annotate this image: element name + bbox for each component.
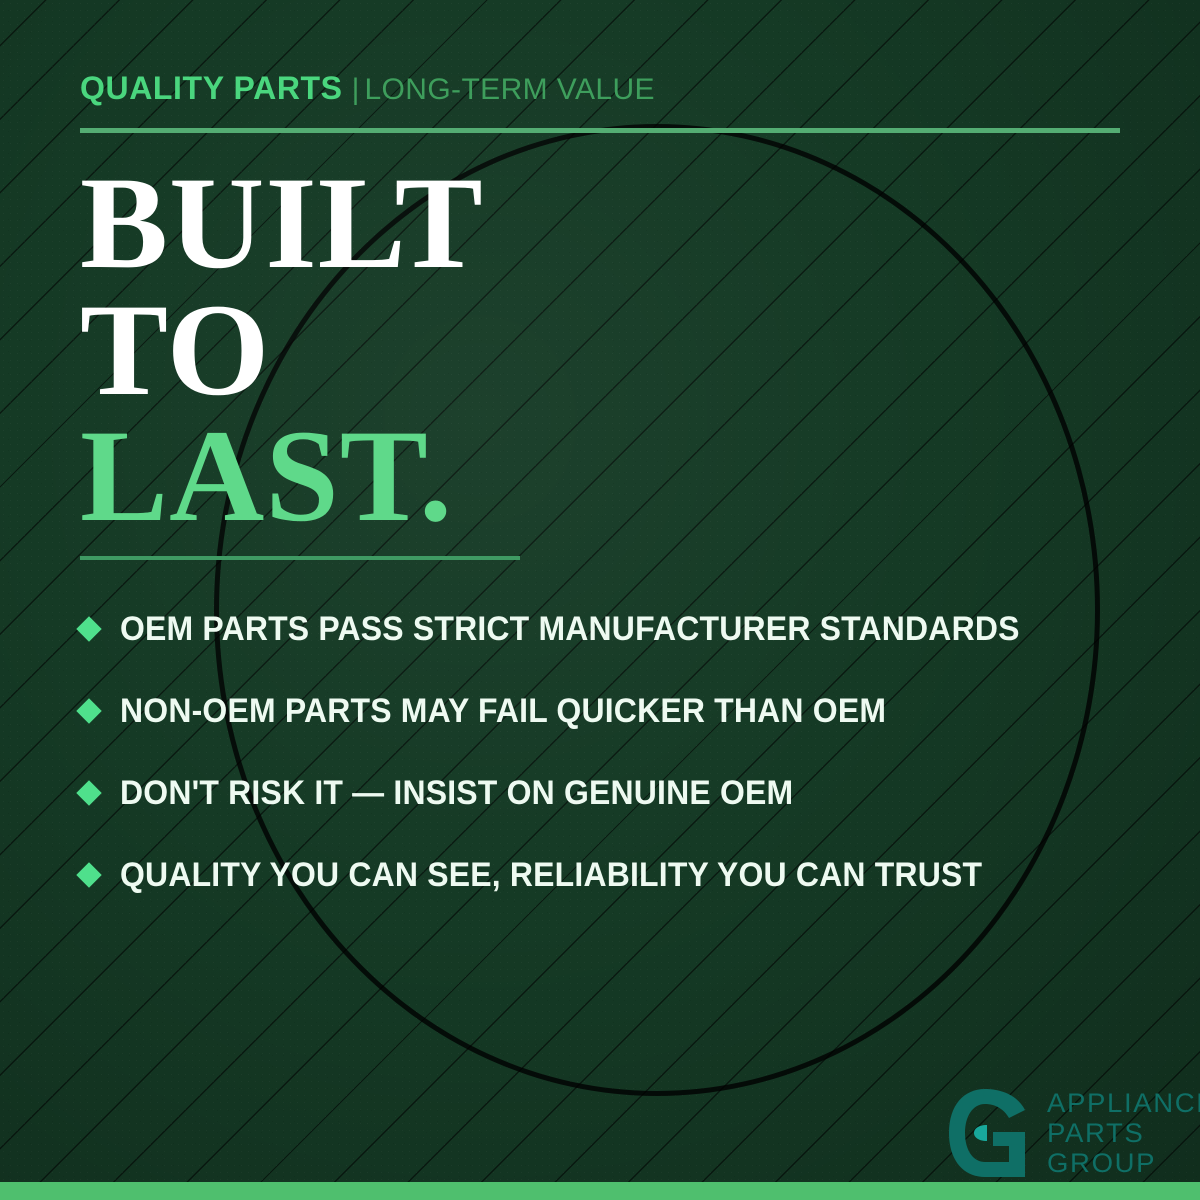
eyebrow-header: QUALITY PARTS|LONG-TERM VALUE xyxy=(80,72,655,105)
list-item-label: DON'T RISK IT — INSIST ON GENUINE OEM xyxy=(120,774,793,813)
list-item: DON'T RISK IT — INSIST ON GENUINE OEM xyxy=(80,752,1150,834)
header-divider xyxy=(80,128,1120,133)
bottom-accent-bar xyxy=(0,1182,1200,1200)
diamond-bullet-icon xyxy=(76,616,101,641)
headline-line-1: BUILT xyxy=(80,160,484,287)
list-item-label: OEM PARTS PASS STRICT MANUFACTURER STAND… xyxy=(120,610,1020,649)
diamond-bullet-icon xyxy=(76,862,101,887)
headline-line-3: LAST. xyxy=(80,413,484,540)
diamond-bullet-icon xyxy=(76,698,101,723)
eyebrow-separator: | xyxy=(352,73,360,106)
list-item: OEM PARTS PASS STRICT MANUFACTURER STAND… xyxy=(80,588,1150,670)
list-item: QUALITY YOU CAN SEE, RELIABILITY YOU CAN… xyxy=(80,834,1150,916)
diamond-bullet-icon xyxy=(76,780,101,805)
brand-logo: APPLIANCE PARTS GROUP xyxy=(947,1088,1200,1178)
brand-line-3: GROUP xyxy=(1047,1148,1200,1178)
g-monogram-icon xyxy=(947,1088,1033,1178)
brand-line-1: APPLIANCE xyxy=(1047,1088,1200,1118)
brand-line-2: PARTS xyxy=(1047,1118,1200,1148)
list-item-label: QUALITY YOU CAN SEE, RELIABILITY YOU CAN… xyxy=(120,856,982,895)
brand-logo-wordmark: APPLIANCE PARTS GROUP xyxy=(1047,1088,1200,1178)
headline-line-2: TO xyxy=(80,287,484,414)
headline-divider xyxy=(80,556,520,560)
promo-card: QUALITY PARTS|LONG-TERM VALUE BUILT TO L… xyxy=(0,0,1200,1200)
headline: BUILT TO LAST. xyxy=(80,160,484,540)
list-item-label: NON-OEM PARTS MAY FAIL QUICKER THAN OEM xyxy=(120,692,886,731)
eyebrow-subtitle: LONG-TERM VALUE xyxy=(364,73,655,106)
benefits-list: OEM PARTS PASS STRICT MANUFACTURER STAND… xyxy=(80,588,1150,916)
list-item: NON-OEM PARTS MAY FAIL QUICKER THAN OEM xyxy=(80,670,1150,752)
eyebrow-kicker: QUALITY PARTS xyxy=(80,70,343,106)
